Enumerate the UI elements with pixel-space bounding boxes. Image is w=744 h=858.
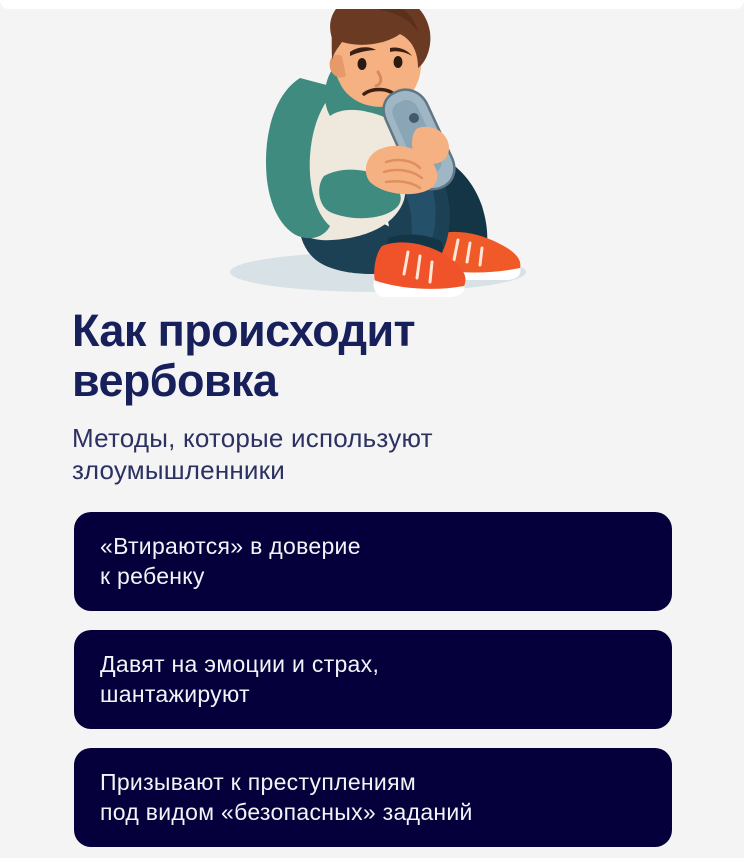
page-subtitle-line-1: Методы, которые используют: [72, 422, 684, 454]
page-title: Как происходит вербовка: [0, 300, 744, 406]
page-title-line-1: Как происходит: [72, 306, 672, 356]
method-card-pressure-text: Давят на эмоции и страх, шантажируют: [100, 649, 646, 709]
text-content-block: Как происходит вербовка Методы, которые …: [0, 300, 744, 486]
page-subtitle: Методы, которые используют злоумышленник…: [0, 406, 744, 486]
method-card-trust-line-2: к ребенку: [100, 561, 646, 591]
illustration-sad-teenager-with-smartphone: [182, 0, 582, 300]
method-card-crime: Призывают к преступлениям под видом «без…: [74, 748, 672, 847]
eye-left: [358, 58, 367, 70]
method-card-crime-line-1: Призывают к преступлениям: [100, 767, 646, 797]
method-card-pressure-line-1: Давят на эмоции и страх,: [100, 649, 646, 679]
top-white-strip: [0, 0, 744, 9]
method-card-crime-line-2: под видом «безопасных» заданий: [100, 797, 646, 827]
method-card-crime-text: Призывают к преступлениям под видом «без…: [100, 767, 646, 827]
phone-camera-dot: [409, 113, 419, 123]
method-card-pressure-line-2: шантажируют: [100, 679, 646, 709]
infographic-poster: Как происходит вербовка Методы, которые …: [0, 0, 744, 858]
method-card-pressure: Давят на эмоции и страх, шантажируют: [74, 630, 672, 729]
method-card-trust: «Втираются» в доверие к ребенку: [74, 512, 672, 611]
methods-card-list: «Втираются» в доверие к ребенку Давят на…: [74, 512, 672, 847]
eye-right: [394, 56, 403, 68]
page-title-line-2: вербовка: [72, 356, 672, 406]
hand-upper: [412, 127, 449, 164]
method-card-trust-line-1: «Втираются» в доверие: [100, 531, 646, 561]
page-subtitle-line-2: злоумышленники: [72, 454, 684, 486]
method-card-trust-text: «Втираются» в доверие к ребенку: [100, 531, 646, 591]
